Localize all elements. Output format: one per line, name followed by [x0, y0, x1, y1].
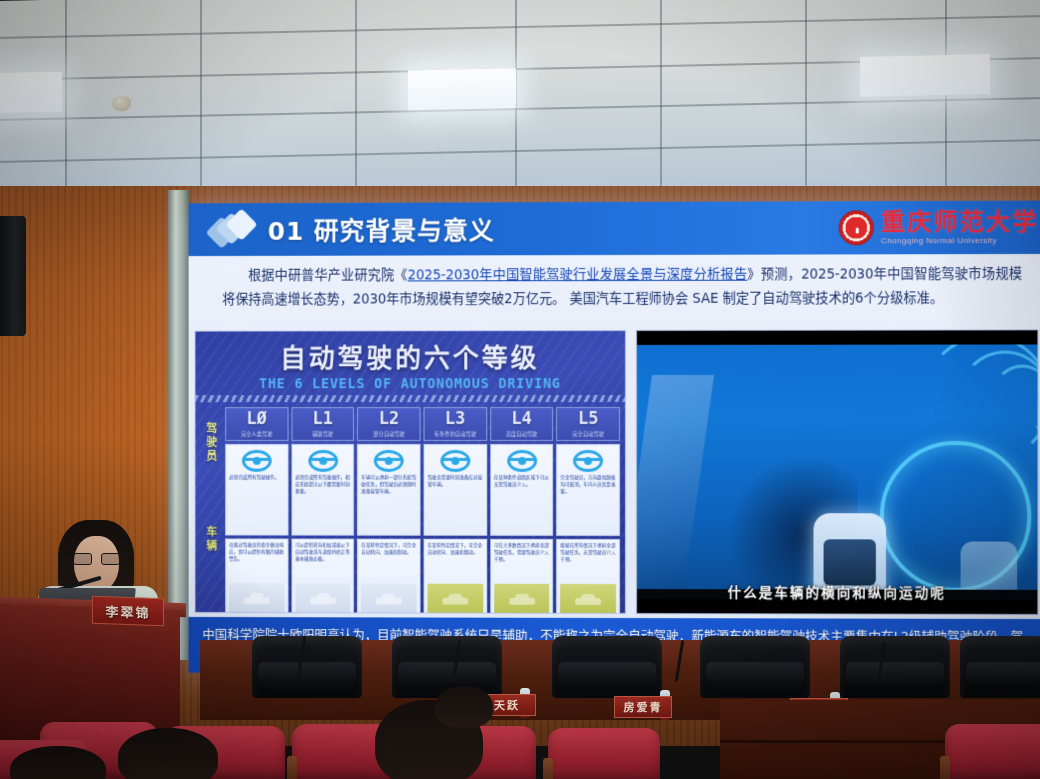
projection-screen: 01 研究背景与意义 重庆师范大学 Chongqing Normal Unive…: [189, 201, 1040, 676]
vehicle-cell: 可在大多数情况下承担全部驾驶任务，需要驾驶员介入干预。: [490, 539, 553, 614]
wall-speaker: [0, 216, 26, 336]
steering-wheel-icon: [242, 450, 272, 472]
eyeglasses-icon: [73, 553, 120, 565]
driver-cell: 车辆可以承担一部分系统驾驶任务，但驾驶员必须随时准备接管车辆。: [357, 444, 420, 536]
infographic-title-cn: 自动驾驶的六个等级: [195, 338, 625, 375]
vehicle-top-view: [814, 513, 886, 590]
level-name: 部分自动驾驶: [358, 431, 419, 438]
driver-cell: 驾驶员需要时刻准备应对接管车辆。: [424, 444, 487, 536]
car-icon: [575, 593, 601, 605]
driver-cell: 必须完成所有驾驶操作，相应系统提示以下都需要时刻准备。: [291, 444, 354, 536]
slide-header: 01 研究背景与意义 重庆师范大学 Chongqing Normal Unive…: [189, 201, 1040, 256]
paragraph-lead: 根据中研普华产业研究院《: [248, 268, 408, 283]
hatch-divider: [195, 395, 625, 402]
vehicle-description: 可在大多数情况下承担全部驾驶任务，需要驾驶员介入干预。: [494, 543, 550, 564]
infographic-title-en: THE 6 LEVELS OF AUTONOMOUS DRIVING: [195, 376, 625, 392]
car-icon: [310, 592, 336, 604]
steering-wheel-icon: [440, 450, 470, 472]
slide-body: 自动驾驶的六个等级 THE 6 LEVELS OF AUTONOMOUS DRI…: [189, 329, 1040, 621]
vehicle-cell: 在某些特定情况下，可完全自动转向、加速和制动。: [424, 539, 487, 614]
level-header: LØ完全人类驾驶: [225, 407, 288, 441]
head-table-chair: [552, 636, 662, 698]
level-header: L1辅助驾驶: [291, 407, 354, 441]
screenshot-root: 01 研究背景与意义 重庆师范大学 Chongqing Normal Unive…: [0, 0, 1040, 779]
autonomy-levels-infographic: 自动驾驶的六个等级 THE 6 LEVELS OF AUTONOMOUS DRI…: [195, 330, 626, 614]
infographic-title: 自动驾驶的六个等级 THE 6 LEVELS OF AUTONOMOUS DRI…: [195, 331, 625, 392]
steering-wheel-icon: [573, 450, 603, 472]
level-columns: LØ完全人类驾驶必须完成所有驾驶操作。仅能对驾驶员的指令做出响应，但可以提供有限…: [195, 404, 625, 614]
level-code: L5: [557, 411, 619, 429]
level-column-L3: L3有条件的自动驾驶驾驶员需要时刻准备应对接管车辆。在某些特定情况下，可完全自动…: [424, 407, 487, 614]
slide-title: 01 研究背景与意义: [268, 211, 495, 248]
level-name: 完全自动驾驶: [557, 431, 619, 438]
driver-cell: 完全驾驶员，方向盘和踏板均可取消，车内人员皆是乘客。: [556, 444, 620, 536]
vehicle-cell: 在某些特定情况下，可完全自动转向、加速和制动。: [357, 538, 420, 614]
autonomy-fill: [428, 583, 483, 613]
car-icon: [442, 592, 468, 604]
steering-wheel-icon: [308, 450, 338, 472]
vehicle-description: 在某些特定情况下，可完全自动转向、加速和制动。: [428, 543, 483, 557]
head-table-chair: [700, 636, 810, 698]
road-surface: [637, 375, 714, 589]
level-column-L1: L1辅助驾驶必须完成所有驾驶操作，相应系统提示以下都需要时刻准备。可以提供转向和…: [291, 407, 354, 614]
audience-seat: [945, 724, 1040, 779]
level-code: L1: [292, 411, 353, 429]
vehicle-description: 仅能对驾驶员的指令做出响应，但可以提供有限的辅助警告。: [229, 542, 284, 563]
level-column-L4: L4高度自动驾驶在某种条件道路区域下可以无需驾驶员介入。可在大多数情况下承担全部…: [490, 407, 553, 614]
level-header: L5完全自动驾驶: [556, 407, 620, 441]
autonomy-fill: [494, 584, 550, 614]
level-code: L2: [358, 411, 419, 429]
level-column-L0: LØ完全人类驾驶必须完成所有驾驶操作。仅能对驾驶员的指令做出响应，但可以提供有限…: [225, 407, 288, 614]
audience-area: [0, 700, 1040, 779]
autonomy-fill: [229, 583, 284, 613]
video-caption: 什么是车辆的横向和纵向运动呢: [637, 581, 1037, 602]
level-column-L2: L2部分自动驾驶车辆可以承担一部分系统驾驶任务，但驾驶员必须随时准备接管车辆。在…: [357, 407, 420, 614]
car-icon: [376, 592, 402, 604]
driver-description: 完全驾驶员，方向盘和踏板均可取消，车内人员皆是乘客。: [560, 475, 616, 496]
vehicle-cell: 能够在所有情况下承担全部驾驶任务，无需驾驶员介入干预。: [556, 539, 620, 614]
video-frame: [637, 344, 1037, 589]
driver-cell: 必须完成所有驾驶操作。: [225, 444, 288, 536]
steering-wheel-icon: [507, 450, 537, 472]
ceiling: [0, 0, 1040, 217]
embedded-video[interactable]: 什么是车辆的横向和纵向运动呢: [636, 329, 1038, 615]
level-name: 有条件的自动驾驶: [425, 431, 486, 438]
stacked-diamonds-icon: [210, 213, 261, 247]
vehicle-cell: 可以提供转向和加减速以下自动驾驶或车道保持修正等基本辅助功能。: [291, 538, 354, 614]
report-link[interactable]: 2025-2030年中国智能驾驶行业发展全景与深度分析报告: [408, 268, 748, 284]
driver-description: 在某种条件道路区域下可以无需驾驶员介入。: [494, 475, 550, 489]
head-table-chair: [960, 636, 1040, 698]
audience-head: [435, 686, 493, 728]
vehicle-description: 可以提供转向和加减速以下自动驾驶或车道保持修正等基本辅助功能。: [295, 542, 350, 563]
level-name: 完全人类驾驶: [226, 431, 287, 438]
level-header: L4高度自动驾驶: [490, 407, 553, 441]
ceiling-light-panel: [860, 54, 990, 97]
autonomy-fill: [295, 583, 350, 613]
university-name-cn: 重庆师范大学: [881, 210, 1038, 235]
vehicle-cell: 仅能对驾驶员的指令做出响应，但可以提供有限的辅助警告。: [225, 538, 288, 614]
car-icon: [509, 593, 535, 605]
level-header: L2部分自动驾驶: [357, 407, 420, 441]
ceiling-tile-grid: [0, 0, 1040, 217]
vehicle-description: 能够在所有情况下承担全部驾驶任务，无需驾驶员介入干预。: [560, 543, 616, 564]
university-seal-icon: [839, 210, 874, 245]
audience-seat: [548, 728, 660, 779]
level-name: 辅助驾驶: [292, 431, 353, 438]
slide-paragraph: 根据中研普华产业研究院《2025-2030年中国智能驾驶行业发展全景与深度分析报…: [222, 263, 1022, 313]
university-logo: 重庆师范大学 Chongqing Normal University: [839, 210, 1040, 246]
autonomy-fill: [560, 584, 616, 614]
car-icon: [244, 592, 270, 604]
presentation-slide: 01 研究背景与意义 重庆师范大学 Chongqing Normal Unive…: [189, 201, 1040, 676]
university-name-en: Chongqing Normal University: [881, 237, 1038, 245]
vehicle-description: 在某些特定情况下，可完全自动转向、加速和制动。: [361, 542, 416, 556]
level-code: L3: [425, 411, 486, 429]
driver-cell: 在某种条件道路区域下可以无需驾驶员介入。: [490, 444, 553, 536]
audience-head: [118, 728, 218, 779]
head-table-chair: [252, 636, 362, 698]
level-column-L5: L5完全自动驾驶完全驾驶员，方向盘和踏板均可取消，车内人员皆是乘客。能够在所有情…: [556, 407, 620, 614]
podium-nameplate: 李翠锦: [92, 596, 164, 627]
ceiling-light-panel: [0, 72, 62, 114]
driver-description: 必须完成所有驾驶操作，相应系统提示以下都需要时刻准备。: [295, 475, 350, 496]
level-code: L4: [491, 411, 553, 429]
level-name: 高度自动驾驶: [491, 431, 553, 438]
ceiling-light-panel: [408, 68, 516, 110]
head-table-chair: [840, 636, 950, 698]
driver-description: 车辆可以承担一部分系统驾驶任务，但驾驶员必须随时准备接管车辆。: [361, 475, 416, 496]
driver-description: 驾驶员需要时刻准备应对接管车辆。: [428, 475, 483, 489]
driver-description: 必须完成所有驾驶操作。: [229, 475, 284, 482]
video-letterbox-top: [637, 330, 1037, 345]
level-code: LØ: [226, 411, 287, 429]
level-header: L3有条件的自动驾驶: [424, 407, 487, 441]
autonomy-fill: [361, 583, 416, 613]
steering-wheel-icon: [374, 450, 404, 472]
